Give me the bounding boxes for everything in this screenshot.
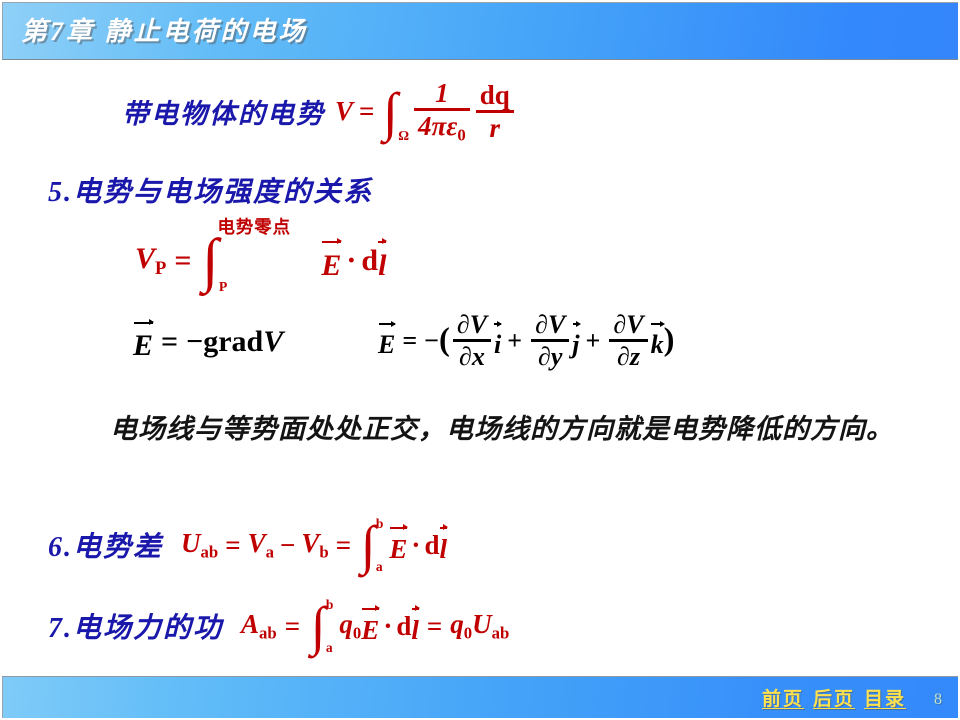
- section-6-heading: 6.电势差: [48, 525, 163, 565]
- potential-of-charged-body-line: 带电物体的电势 V = ∫ Ω 1 4πε0 dq r: [122, 80, 517, 144]
- integral-operator: ∫ P 电势零点: [201, 228, 227, 294]
- differential-d: d: [396, 611, 411, 642]
- formula-v-symbol: V: [335, 96, 353, 127]
- dot-product-sign: ·: [383, 611, 392, 642]
- slide-header-bar: 第7章 静止电荷的电场: [2, 2, 958, 60]
- equals-sign: =: [285, 611, 300, 642]
- integral-operator: ∫ Ω: [382, 81, 409, 143]
- dot-product-sign: ·: [411, 530, 420, 561]
- fraction-numerator: 1: [431, 80, 453, 108]
- slide-footer-bar: 前页 后页 目录 8: [2, 676, 958, 718]
- fraction-dq-over-r: dq r: [476, 82, 514, 142]
- differential-d: d: [424, 530, 439, 561]
- u-ab-symbol-2: Uab: [472, 609, 509, 643]
- close-paren: ): [664, 322, 675, 359]
- e-field-vector: E: [321, 240, 341, 283]
- j-unit-vector: j: [572, 322, 579, 360]
- fraction-numerator-partial-v: ∂V: [453, 312, 491, 339]
- dl-vector: l: [378, 240, 386, 283]
- e-field-vector: E: [361, 606, 379, 645]
- fraction-dv-dx: ∂V ∂x: [453, 312, 491, 370]
- fraction-denominator-partial-y: ∂y: [534, 342, 566, 370]
- section-6-row: 6.电势差 Uab = Va − Vb = ∫ b a E · d l: [48, 517, 447, 573]
- fraction-denominator-partial-z: ∂z: [613, 342, 644, 370]
- integral-upper-limit-zero-potential: 电势零点: [217, 214, 291, 239]
- integral-lower-limit: Ω: [398, 129, 409, 143]
- page-number: 8: [934, 691, 942, 709]
- integral-lower-limit: a: [326, 641, 334, 655]
- fraction-dv-dy: ∂V ∂y: [531, 312, 569, 370]
- fraction-numerator-partial-v: ∂V: [531, 312, 569, 339]
- e-field-vector: E: [389, 525, 407, 564]
- v-symbol: V: [263, 325, 283, 359]
- formula-work-by-electric-force: Aab = ∫ b a q0 E · d l = q0 Uab: [241, 598, 509, 654]
- formula-e-partial-derivatives: E = − ( ∂V ∂x i + ∂V ∂y j + ∂V ∂z k ): [378, 312, 674, 370]
- section-7-row: 7.电场力的功 Aab = ∫ b a q0 E · d l = q0 Uab: [48, 598, 509, 654]
- equals-sign: =: [359, 96, 374, 127]
- integral-lower-limit: a: [376, 560, 384, 574]
- k-unit-vector: k: [651, 322, 664, 360]
- plus-sign: +: [586, 326, 601, 356]
- plus-sign: +: [507, 326, 522, 356]
- section-7-heading: 7.电场力的功: [48, 606, 223, 646]
- integral-sign: ∫: [360, 523, 375, 567]
- fraction-numerator-partial-v: ∂V: [609, 312, 647, 339]
- slide-content-area: 带电物体的电势 V = ∫ Ω 1 4πε0 dq r 5.电势与电场强度: [0, 60, 960, 676]
- table-of-contents-link[interactable]: 目录: [864, 684, 906, 711]
- minus-sign: −: [424, 326, 439, 356]
- q0-symbol-2: q0: [450, 609, 472, 643]
- section-5-heading: 5.电势与电场强度的关系: [48, 170, 373, 210]
- equals-sign: =: [336, 530, 351, 561]
- u-ab-symbol: Uab: [181, 528, 218, 562]
- a-ab-symbol: Aab: [241, 609, 277, 643]
- dl-vector: l: [439, 525, 447, 564]
- vp-symbol: VP: [135, 242, 166, 280]
- dot-product-sign: ·: [346, 244, 356, 278]
- integral-upper-limit: b: [326, 598, 334, 612]
- minus-sign: −: [280, 530, 295, 561]
- dl-vector: l: [411, 606, 419, 645]
- fraction-numerator-dq: dq: [476, 82, 514, 110]
- integral-limits: b a: [326, 598, 334, 654]
- formula-vp-definition: VP = ∫ P 电势零点 E · d l: [135, 228, 386, 294]
- grad-operator: grad: [203, 325, 263, 359]
- formula-potential-difference: Uab = Va − Vb = ∫ b a E · d l: [181, 517, 447, 573]
- e-field-vector: E: [133, 320, 153, 363]
- e-field-vector: E: [378, 322, 395, 360]
- v-b-symbol: Vb: [301, 528, 328, 562]
- equals-sign: =: [402, 326, 417, 356]
- integral-operator: ∫ b a: [310, 598, 333, 654]
- minus-sign: −: [186, 325, 203, 359]
- potential-of-charged-body-label: 带电物体的电势: [122, 92, 325, 131]
- q0-symbol: q0: [339, 609, 361, 643]
- chapter-title: 第7章 静止电荷的电场: [21, 11, 308, 48]
- equals-sign: =: [174, 244, 191, 278]
- formula-potential-integral: V = ∫ Ω 1 4πε0 dq r: [335, 80, 517, 144]
- fraction-dv-dz: ∂V ∂z: [609, 312, 647, 370]
- equals-sign: =: [427, 611, 442, 642]
- prev-page-link[interactable]: 前页: [762, 684, 804, 711]
- integral-operator: ∫ b a: [360, 517, 383, 573]
- section-5-paragraph: 电场线与等势面处处正交，电场线的方向就是电势降低的方向。: [52, 410, 914, 449]
- open-paren: (: [439, 322, 450, 359]
- integral-lower-limit: P: [219, 280, 227, 294]
- integral-sign: ∫: [382, 90, 397, 134]
- footer-navigation: 前页 后页 目录: [762, 684, 906, 711]
- fraction-denominator-partial-x: ∂x: [455, 342, 489, 370]
- equals-sign: =: [161, 325, 178, 359]
- fraction-denominator-r: r: [485, 113, 504, 142]
- integral-limits: Ω: [398, 81, 409, 143]
- integral-sign: ∫: [310, 604, 325, 648]
- formula-e-equals-minus-grad-v: E = − grad V: [133, 320, 283, 363]
- i-unit-vector: i: [494, 322, 501, 360]
- fraction-denominator: 4πε0: [414, 111, 470, 144]
- fraction-one-over-four-pi-epsilon: 1 4πε0: [414, 80, 470, 144]
- equals-sign: =: [225, 530, 240, 561]
- differential-d: d: [361, 244, 378, 278]
- v-a-symbol: Va: [248, 528, 274, 562]
- next-page-link[interactable]: 后页: [813, 684, 855, 711]
- integral-limits: b a: [376, 517, 384, 573]
- integral-upper-limit: b: [376, 517, 384, 531]
- integral-sign: ∫: [201, 236, 217, 285]
